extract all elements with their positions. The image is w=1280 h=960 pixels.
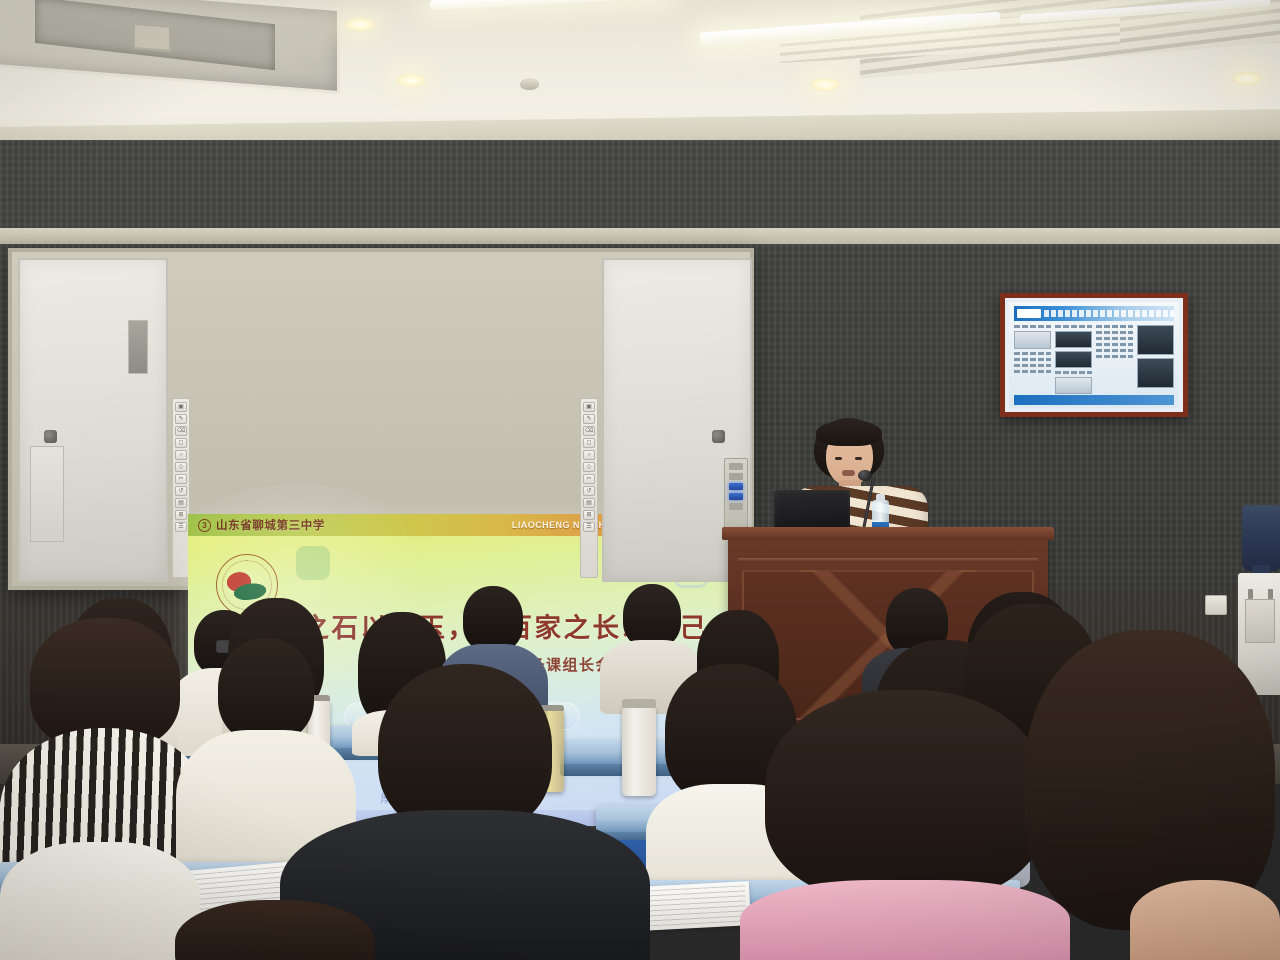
bottle-cap-icon (876, 494, 885, 501)
interactive-whiteboard[interactable]: ▣ ✎ ⌫ ◻ ○ ◇ ✂ ↺ ▤ ⊞ ☰ 3 山东省聊城第三中学 LIAOCH… (8, 248, 754, 590)
tool-button-icon[interactable]: ✎ (175, 414, 187, 424)
classroom-scene: ACER ▣ ✎ ⌫ ◻ ○ ◇ ✂ ↺ ▤ ⊞ ☰ (0, 0, 1280, 960)
poster-header (1014, 306, 1174, 321)
person-head (463, 586, 523, 652)
poster-title-text (1044, 310, 1174, 317)
poster-column (1055, 325, 1092, 394)
tool-button-icon[interactable]: ⌫ (583, 426, 595, 436)
person-torso (1130, 880, 1280, 960)
ac-vent-icon (133, 23, 171, 52)
tool-button-icon[interactable]: ▣ (175, 402, 187, 412)
smoke-detector-icon (520, 78, 539, 90)
tool-button-icon[interactable]: ○ (175, 450, 187, 460)
deco-square-1 (296, 546, 330, 580)
audience-person-nearest (170, 900, 380, 960)
tool-button-icon[interactable]: ⊞ (583, 510, 595, 520)
tool-button-icon[interactable]: ◻ (583, 438, 595, 448)
tool-button-icon[interactable]: ⌫ (175, 426, 187, 436)
water-jug-icon (1242, 505, 1280, 571)
downlight-icon-3 (810, 78, 840, 91)
poster-logo-icon (1017, 309, 1041, 318)
poster-column (1137, 325, 1174, 394)
poster-footer (1014, 395, 1174, 405)
school-badge-icon: 3 (198, 519, 211, 532)
tool-button-icon[interactable]: ↺ (583, 486, 595, 496)
poster-column (1014, 325, 1051, 394)
person-hair (765, 690, 1045, 900)
tool-button-icon[interactable]: ▤ (175, 498, 187, 508)
tool-button-icon[interactable]: ☰ (583, 522, 595, 532)
downlight-icon-2 (396, 74, 426, 87)
dispenser-tap-icon[interactable] (1248, 589, 1253, 599)
control-button-led-icon[interactable] (729, 483, 743, 490)
presenter-eye-right (855, 457, 862, 460)
tool-button-icon[interactable]: ◇ (175, 462, 187, 472)
tool-button-icon[interactable]: ○ (583, 450, 595, 460)
presenter-mouth (842, 470, 855, 476)
ceiling (0, 0, 1280, 152)
poster-column (1096, 325, 1133, 394)
wall-poster (1000, 293, 1188, 417)
tool-button-icon[interactable]: ⊞ (175, 510, 187, 520)
person-head (378, 664, 552, 834)
podium-top-surface (722, 527, 1054, 540)
ac-cassette-unit-icon (0, 0, 340, 94)
whiteboard-sensor-strip (128, 320, 148, 374)
strip-light-icon-3 (430, 0, 670, 10)
tool-button-icon[interactable]: ◻ (175, 438, 187, 448)
control-button-icon[interactable] (729, 473, 743, 480)
presenter-hair-front (816, 420, 882, 446)
microphone-icon (858, 470, 872, 481)
person-hair (175, 900, 375, 960)
paper-lines (643, 885, 747, 926)
tool-button-icon[interactable]: ✂ (583, 474, 595, 484)
handout-paper-3[interactable] (639, 881, 751, 931)
tool-button-icon[interactable]: ▤ (583, 498, 595, 508)
tool-button-icon[interactable]: ▣ (583, 402, 595, 412)
whiteboard-toolbar-right[interactable]: ▣ ✎ ⌫ ◻ ○ ◇ ✂ ↺ ▤ ⊞ ☰ (580, 398, 598, 578)
wall-outlet-icon[interactable] (1205, 595, 1227, 615)
whiteboard-handle-icon[interactable] (44, 430, 57, 443)
dispenser-tap-icon-2[interactable] (1268, 589, 1273, 599)
school-name-cn: 山东省聊城第三中学 (216, 517, 325, 533)
tool-button-icon[interactable]: ✂ (175, 474, 187, 484)
wall-control-panel[interactable] (724, 458, 748, 536)
tool-button-icon[interactable]: ✎ (583, 414, 595, 424)
wall-trim-upper (0, 228, 1280, 244)
whiteboard-handle-icon[interactable] (712, 430, 725, 443)
control-button-icon[interactable] (729, 503, 743, 510)
downlight-icon-4 (1232, 72, 1262, 85)
downlight-icon-1 (345, 18, 375, 31)
tool-button-icon[interactable]: ☰ (175, 522, 187, 532)
poster-inner (1009, 302, 1179, 408)
tool-button-icon[interactable]: ↺ (175, 486, 187, 496)
podium-rail (738, 558, 1038, 562)
presenter-eye-left (835, 457, 842, 460)
tool-button-icon[interactable]: ◇ (583, 462, 595, 472)
audience-person-nearest (1130, 880, 1280, 960)
poster-columns (1014, 325, 1174, 394)
person-head (623, 584, 681, 648)
whiteboard-card-slot (30, 446, 64, 542)
control-button-led-icon[interactable] (729, 493, 743, 500)
control-button-icon[interactable] (729, 463, 743, 470)
whiteboard-left-wing[interactable] (18, 258, 168, 582)
